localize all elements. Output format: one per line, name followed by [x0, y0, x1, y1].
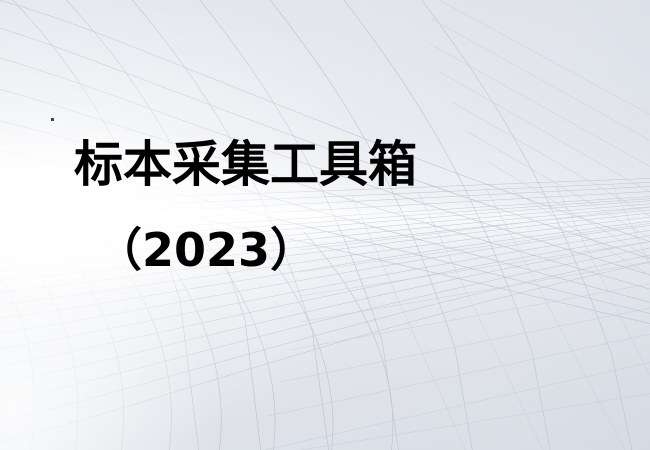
title-block: 标本采集工具箱 （2023） [0, 0, 650, 450]
stray-dot-artifact [51, 118, 54, 121]
title-year: （2023） [96, 222, 316, 278]
title-slide: 标本采集工具箱 （2023） [0, 0, 650, 450]
page-title: 标本采集工具箱 [74, 136, 417, 194]
